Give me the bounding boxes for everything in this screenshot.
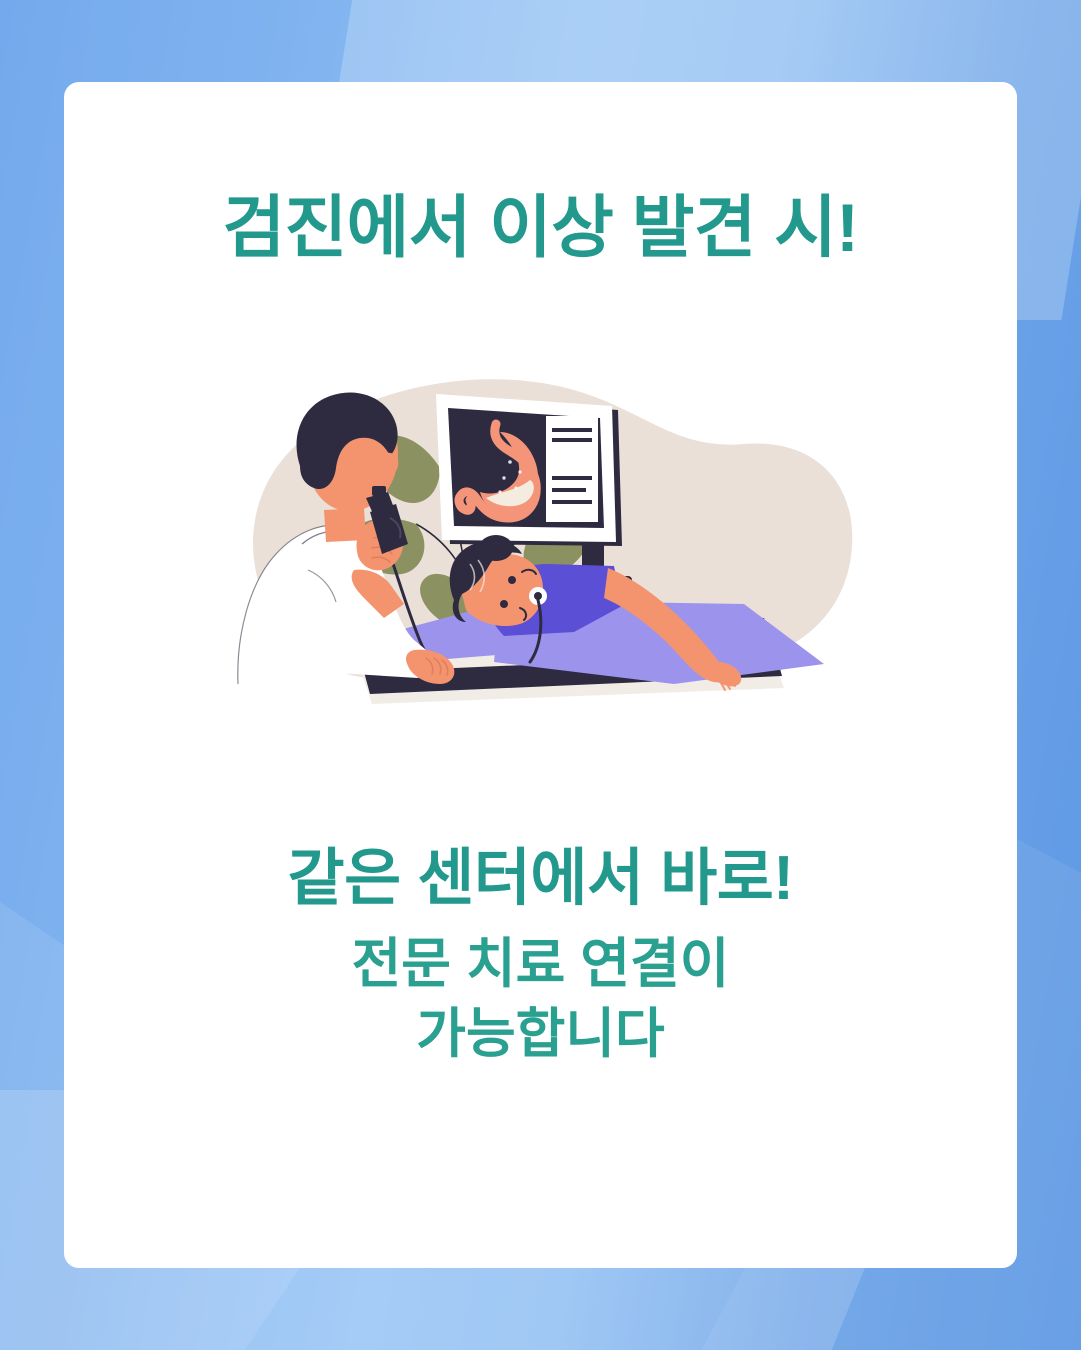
- monitor-report-panel: [546, 416, 598, 522]
- page-title: 검진에서 이상 발견 시!: [64, 188, 1017, 268]
- patient-hair-bun: [479, 535, 513, 561]
- patient-eye-upper: [508, 576, 516, 584]
- emphasis-line: 같은 센터에서 바로!: [64, 842, 1017, 915]
- monitor: [436, 394, 622, 546]
- poster-canvas: 검진에서 이상 발견 시!: [0, 0, 1081, 1350]
- body-line-1: 전문 치료 연결이: [64, 932, 1017, 998]
- endoscopy-illustration: [204, 332, 884, 782]
- body-line-2: 가능합니다: [64, 1002, 1017, 1068]
- content-card: 검진에서 이상 발견 시!: [64, 82, 1017, 1268]
- patient-eye-lower: [500, 600, 508, 608]
